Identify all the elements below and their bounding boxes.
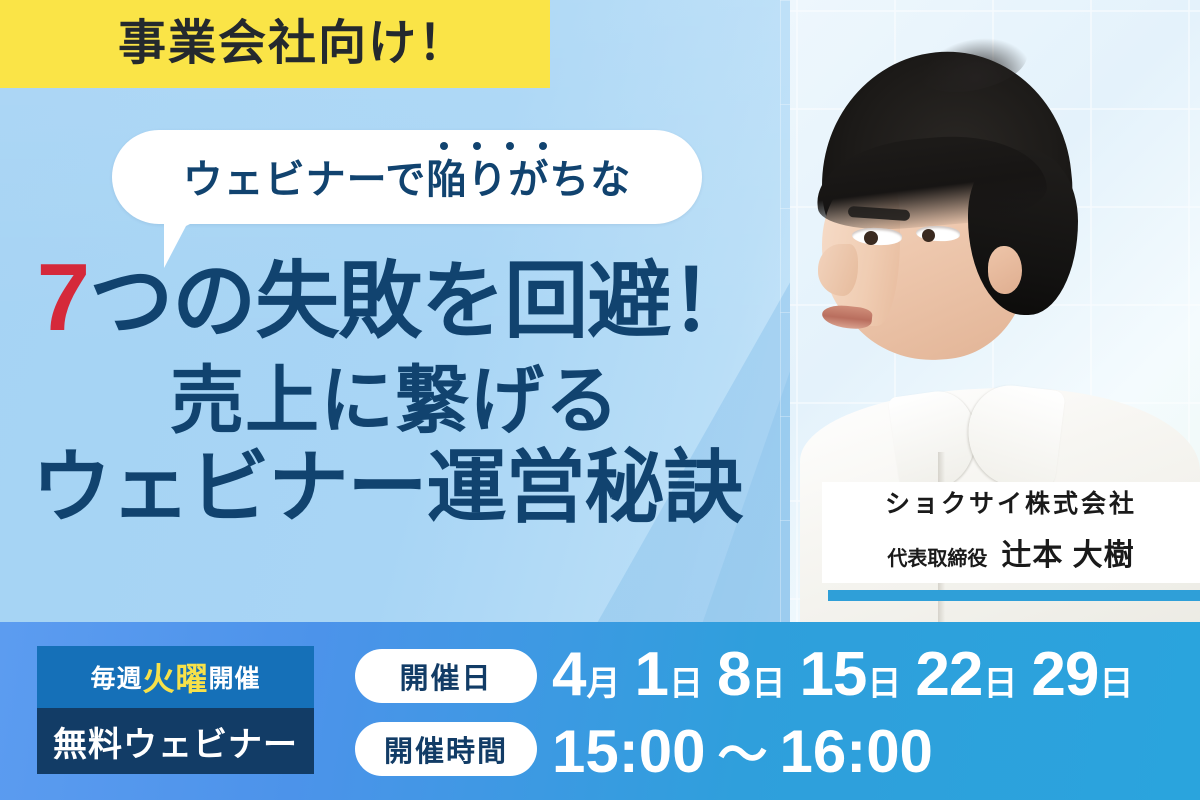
time-start: 15:00: [552, 718, 705, 785]
badge-highlight: 火曜: [142, 654, 208, 700]
date-values: 4 月 1 日 8 日 15 日 22 日 29 日: [552, 644, 1133, 706]
pupil-near-shape: [864, 231, 878, 245]
date-day-unit: 日: [867, 667, 901, 701]
time-label-pill: 開催時間: [355, 722, 537, 776]
top-ribbon-text: 事業会社向け！: [82, 20, 468, 68]
ear-shape: [988, 246, 1022, 294]
date-month-number: 4: [552, 644, 585, 706]
top-ribbon: 事業会社向け！: [0, 0, 550, 88]
footer-badge: 毎週 火曜 開催 無料ウェビナー: [37, 646, 314, 774]
nameplate-accent-bar: [828, 590, 1200, 601]
footer-bar: 毎週 火曜 開催 無料ウェビナー 開催日 開催時間 4 月 1 日 8 日 15…: [0, 622, 1200, 800]
nose-shape: [818, 244, 858, 296]
date-day-unit: 日: [983, 667, 1017, 701]
time-label-text: 開催時間: [384, 728, 508, 770]
time-separator: 〜: [717, 727, 767, 783]
date-day-unit: 日: [1099, 667, 1133, 701]
date-label-text: 開催日: [399, 655, 492, 697]
time-end: 16:00: [779, 718, 932, 785]
date-day-unit: 日: [669, 667, 703, 701]
speaker-name: 辻本 大樹: [1001, 530, 1134, 574]
badge-free-webinar-label: 無料ウェビナー: [53, 717, 298, 766]
time-values: 15:00〜16:00: [552, 722, 933, 782]
speaker-role-row: 代表取締役 辻本 大樹: [887, 530, 1134, 574]
emphasis-dot: [539, 142, 547, 150]
date-day-number: 1: [634, 644, 667, 706]
webinar-banner: 事業会社向け！ ウェビナーで陥りがちな 7つの失敗を回避！ 売上に繋げる ウェビ…: [0, 0, 1200, 800]
headline-line-2: 売上に繋げる: [0, 364, 790, 438]
headline-number-seven: 7: [37, 244, 89, 351]
date-month-unit: 月: [586, 667, 620, 701]
emphasis-dots: [26, 142, 788, 150]
speaker-role: 代表取締役: [887, 542, 987, 571]
emphasis-dot: [473, 142, 481, 150]
badge-suffix: 開催: [209, 659, 261, 695]
speech-bubble-text: ウェビナーで陥りがちな: [183, 160, 632, 200]
date-day-number: 22: [915, 644, 982, 706]
footer-badge-bottom: 無料ウェビナー: [37, 708, 314, 774]
headline-line-1-rest: つの失敗を回避！: [89, 254, 753, 348]
badge-prefix: 毎週: [90, 659, 142, 695]
pupil-far-shape: [922, 229, 935, 242]
emphasis-dot: [440, 142, 448, 150]
date-day-number: 15: [799, 644, 866, 706]
date-label-pill: 開催日: [355, 649, 537, 703]
speaker-company: ショクサイ株式会社: [885, 492, 1137, 517]
date-day-number: 8: [717, 644, 750, 706]
footer-badge-top: 毎週 火曜 開催: [37, 646, 314, 708]
headline-block: 7つの失敗を回避！ 売上に繋げる ウェビナー運営秘訣: [0, 250, 790, 528]
date-day-number: 29: [1031, 644, 1098, 706]
headline-line-1: 7つの失敗を回避！: [0, 250, 790, 346]
speech-bubble: ウェビナーで陥りがちな: [112, 130, 702, 224]
date-day-unit: 日: [751, 667, 785, 701]
headline-line-3: ウェビナー運営秘訣: [0, 448, 782, 528]
speaker-nameplate: ショクサイ株式会社 代表取締役 辻本 大樹: [822, 482, 1200, 583]
emphasis-dot: [506, 142, 514, 150]
